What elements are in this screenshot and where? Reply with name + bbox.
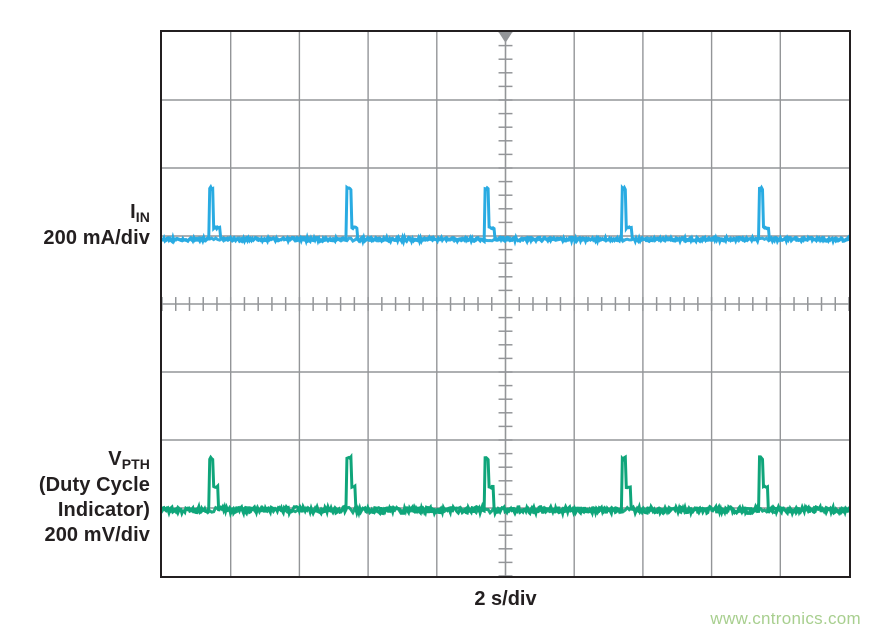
channel-2-name-subscript: PTH [122, 456, 150, 472]
channel-1-scale: 200 mA/div [0, 226, 150, 251]
channel-1-annotation: IIN 200 mA/div [0, 200, 150, 251]
channel-1-name: IIN [0, 200, 150, 226]
scope-traces [162, 32, 849, 576]
channel-1-name-subscript: IN [136, 209, 150, 225]
site-watermark: www.cntronics.com [710, 609, 861, 629]
channel-2-descriptor-line2: Indicator) [0, 498, 150, 523]
trace-i-in [162, 187, 849, 241]
trace-v-pth [162, 457, 849, 514]
channel-1-name-main: I [130, 201, 136, 223]
channel-2-scale: 200 mV/div [0, 523, 150, 548]
oscilloscope-figure: IIN 200 mA/div VPTH (Duty Cycle Indicato… [0, 0, 873, 635]
channel-2-name: VPTH [0, 447, 150, 473]
timebase-label: 2 s/div [160, 588, 851, 611]
scope-plot-area [160, 30, 851, 578]
channel-2-annotation: VPTH (Duty Cycle Indicator) 200 mV/div [0, 447, 150, 548]
channel-2-descriptor-line1: (Duty Cycle [0, 473, 150, 498]
channel-2-name-main: V [108, 448, 121, 470]
